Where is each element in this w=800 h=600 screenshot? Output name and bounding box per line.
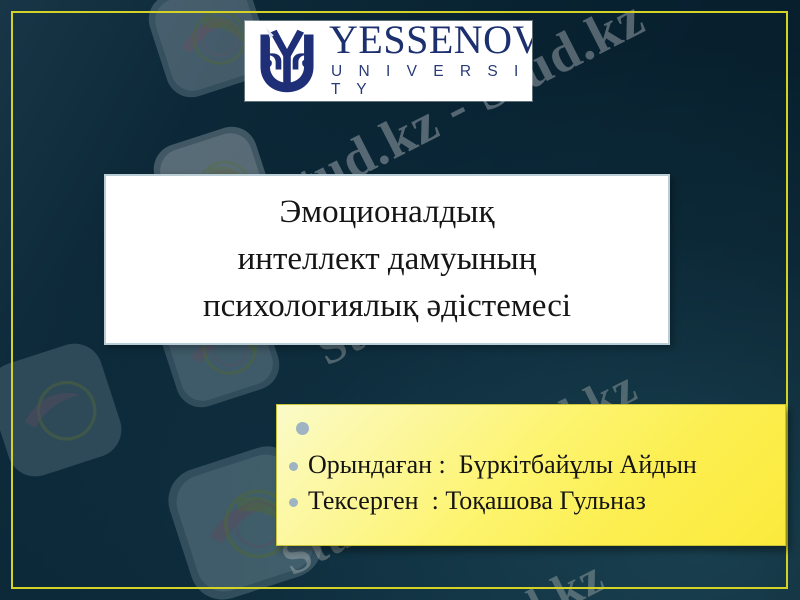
list-item-label: Орындаған : Бүркітбайұлы Айдын [308,447,697,483]
yessenov-y-mark-icon [249,25,325,97]
bullet-dot-icon [289,498,298,507]
bullet-dot-icon [289,462,298,471]
university-logo: YESSENOV U N I V E R S I T Y [245,21,532,101]
slide-title: Эмоционалдық интеллект дамуының психолог… [195,189,579,330]
list-item: Тексерген : Тоқашова Гульназ [287,483,779,519]
bullet-dot-icon [296,422,309,435]
slide-title-box: Эмоционалдық интеллект дамуының психолог… [104,174,670,345]
watermark-leaf-logo [0,328,137,492]
list-item [287,417,779,447]
university-logo-text: YESSENOV U N I V E R S I T Y [329,21,532,101]
university-name: YESSENOV [329,21,532,59]
slide-notes-box: Орындаған : Бүркітбайұлы Айдын Тексерген… [276,404,786,546]
presentation-slide: Stud.kz - Stud.kz Stud.kz Stud.kz Stud.k… [0,0,800,600]
list-item-label: Тексерген : Тоқашова Гульназ [308,483,646,519]
university-subtitle: U N I V E R S I T Y [331,63,532,99]
list-item: Орындаған : Бүркітбайұлы Айдын [287,447,779,483]
watermark-text: Stud.kz [443,549,613,600]
